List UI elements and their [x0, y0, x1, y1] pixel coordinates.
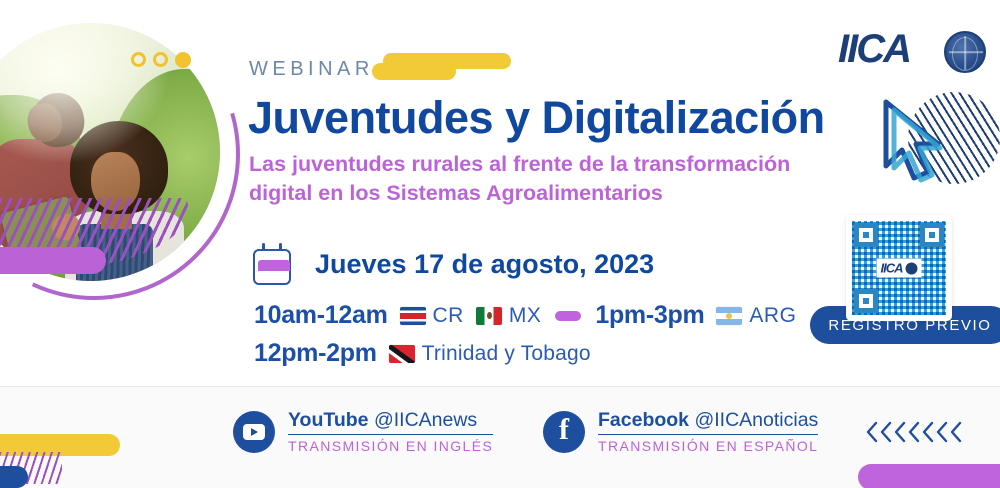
country-code-cr: CR	[433, 304, 464, 328]
time-value-arg: 1pm-3pm	[595, 301, 704, 330]
time-row-secondary: 12pm-2pm Trinidad y Tobago	[254, 339, 591, 368]
decor-dot-1	[131, 52, 146, 67]
photo-purple-bar-decoration	[0, 247, 106, 274]
eyebrow-label: WEBINAR	[249, 58, 374, 81]
page-title: Juventudes y Digitalización	[248, 92, 888, 144]
yellow-bar-bottom	[372, 63, 456, 80]
facebook-note: TRANSMISIÓN EN ESPAÑOL	[598, 438, 818, 454]
country-code-arg: ARG	[749, 304, 796, 328]
iica-logo: IICA	[838, 27, 988, 77]
youtube-platform: YouTube	[288, 409, 369, 431]
youtube-note: TRANSMISIÓN EN INGLÉS	[288, 438, 493, 454]
iica-logo-text: IICA	[838, 27, 910, 72]
facebook-handle-line: Facebook @IICAnoticias	[598, 409, 818, 435]
cursor-arrow-icon	[876, 96, 962, 184]
chevron-left-icon	[950, 421, 962, 443]
chevron-left-icon	[866, 421, 878, 443]
chevron-left-icon	[880, 421, 892, 443]
page-subtitle: Las juventudes rurales al frente de la t…	[249, 150, 859, 207]
social-channel-youtube[interactable]: YouTube @IICAnews TRANSMISIÓN EN INGLÉS	[233, 409, 493, 454]
footer-blue-bar	[0, 466, 28, 488]
decor-dot-3	[175, 52, 191, 68]
flag-costa-rica-icon	[400, 307, 426, 325]
separator-pill	[555, 311, 581, 321]
decor-dot-2	[153, 52, 168, 67]
youtube-icon	[233, 411, 275, 453]
webinar-banner: WEBINAR Juventudes y Digitalización Las …	[0, 0, 1000, 488]
country-code-mx: MX	[509, 304, 542, 328]
time-value-cr-mx: 10am-12am	[254, 301, 388, 330]
flag-mexico-icon	[476, 307, 502, 325]
globe-emblem-icon	[944, 31, 986, 73]
chevron-left-icon	[922, 421, 934, 443]
social-channel-facebook[interactable]: f Facebook @IICAnoticias TRANSMISIÓN EN …	[543, 409, 818, 454]
chevron-left-icon	[908, 421, 920, 443]
time-value-tt: 12pm-2pm	[254, 339, 377, 368]
flag-trinidad-tobago-icon	[389, 345, 415, 363]
chevron-left-icon	[894, 421, 906, 443]
chevron-left-icon	[936, 421, 948, 443]
flag-argentina-icon	[716, 307, 742, 325]
chevrons-decoration	[866, 421, 962, 443]
youtube-handle-line: YouTube @IICAnews	[288, 409, 493, 435]
facebook-handle: @IICAnoticias	[694, 409, 818, 431]
country-name-tt: Trinidad y Tobago	[422, 342, 591, 366]
facebook-platform: Facebook	[598, 409, 689, 431]
youtube-handle: @IICAnews	[374, 409, 477, 431]
qr-center-logo: IICA	[877, 259, 922, 278]
calendar-icon	[253, 243, 291, 285]
qr-center-text: IICA	[881, 261, 903, 276]
qr-code[interactable]: IICA	[846, 215, 952, 321]
facebook-icon: f	[543, 411, 585, 453]
footer-purple-bar-2	[876, 480, 996, 488]
footer-band	[0, 386, 1000, 488]
event-date: Jueves 17 de agosto, 2023	[315, 249, 654, 280]
time-row-primary: 10am-12am CR MX 1pm-3pm ARG	[254, 301, 796, 330]
